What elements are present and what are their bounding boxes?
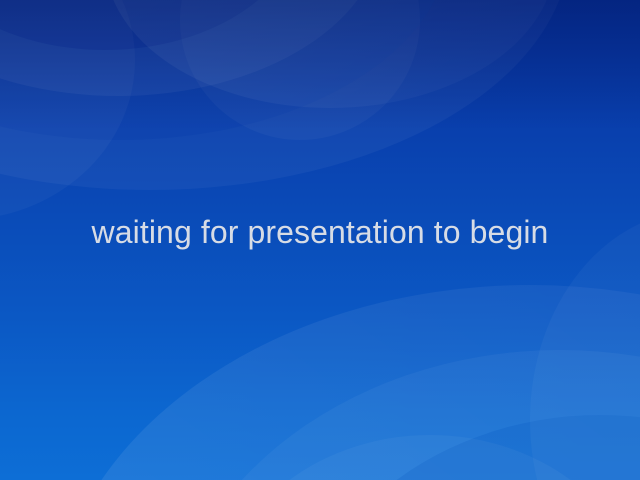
presentation-slide: waiting for presentation to begin: [0, 0, 640, 480]
slide-text-container: waiting for presentation to begin: [0, 0, 640, 480]
slide-headline: waiting for presentation to begin: [92, 213, 549, 251]
